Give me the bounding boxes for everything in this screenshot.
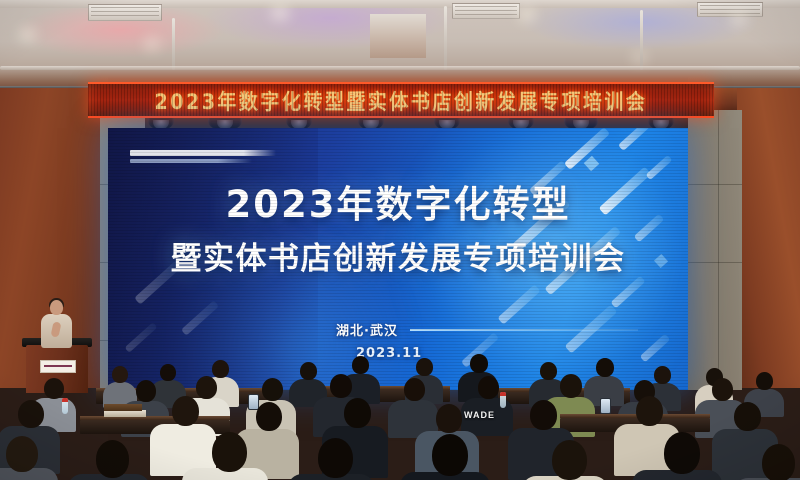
ceiling-vent <box>88 4 162 21</box>
jacket-text: WADE <box>464 410 495 420</box>
speaker-person <box>38 300 74 354</box>
smartphone <box>600 398 611 414</box>
wall-panel-right <box>737 88 800 388</box>
ceiling-vent <box>697 2 763 17</box>
ceiling-downlight <box>20 30 35 39</box>
slide-title-line2: 暨实体书店创新发展专项培训会 <box>108 233 688 278</box>
slide-divider-rule <box>410 329 638 331</box>
wall-acoustic-right <box>688 110 742 390</box>
ceiling-downlight <box>520 10 534 19</box>
slide-location-row: 湖北·武汉 <box>336 320 638 339</box>
led-banner-text: 2023年数字化转型暨实体书店创新发展专项培训会 <box>155 85 648 115</box>
ceiling-downlight <box>272 8 288 18</box>
desk-book <box>104 404 142 411</box>
slide-organization-logo <box>130 150 276 163</box>
conference-hall-photo: 2023年数字化转型暨实体书店创新发展专项培训会 2023年数字化转 <box>0 0 800 480</box>
slide-title-line1: 2023年数字化转型 <box>108 184 688 227</box>
led-banner: 2023年数字化转型暨实体书店创新发展专项培训会 <box>88 82 714 118</box>
ceiling-downlight <box>732 14 746 23</box>
slide-location: 湖北·武汉 <box>336 320 398 339</box>
ceiling-vent <box>452 3 520 19</box>
slide-title-block: 2023年数字化转型 暨实体书店创新发展专项培训会 <box>108 184 688 278</box>
desk-book <box>104 410 146 417</box>
ceiling-downlight <box>146 40 158 48</box>
audience-area: WADE <box>0 352 800 480</box>
water-bottle <box>62 398 68 414</box>
presentation-screen: 2023年数字化转型 暨实体书店创新发展专项培训会 湖北·武汉 2023.11 <box>108 128 688 390</box>
ceiling <box>0 0 800 92</box>
water-bottle <box>500 392 506 408</box>
